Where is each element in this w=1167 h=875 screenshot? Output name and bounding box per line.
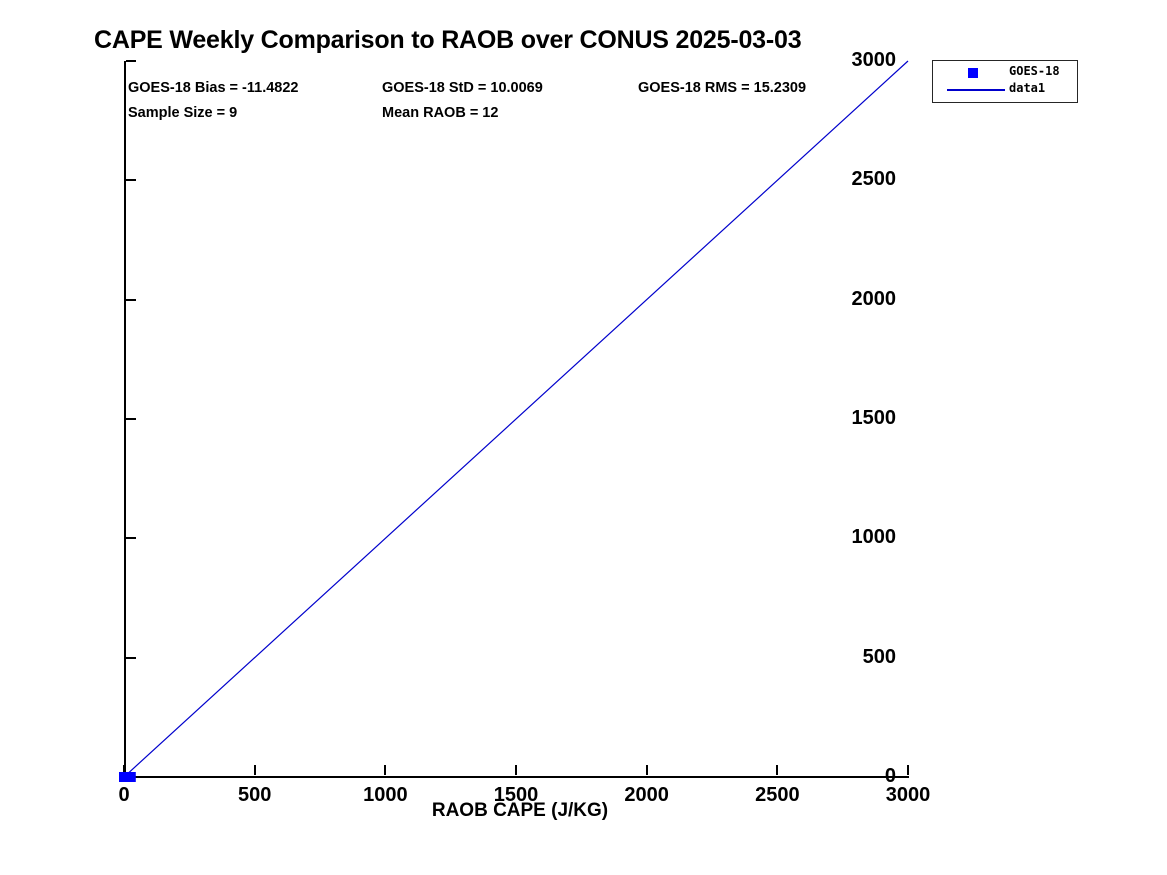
chart-canvas: CAPE Weekly Comparison to RAOB over CONU…: [0, 0, 1167, 875]
legend-line-icon: [947, 89, 1005, 91]
plot-area: 050010001500200025003000 050010001500200…: [124, 61, 908, 777]
stat-mean-raob: Mean RAOB = 12: [382, 105, 498, 121]
reference-line-series: [124, 61, 908, 777]
series-layer: [124, 61, 908, 777]
legend: GOES-18 data1: [932, 60, 1078, 103]
legend-label-data1: data1: [1009, 81, 1045, 95]
legend-label-goes18: GOES-18: [1009, 64, 1060, 78]
stat-rms: GOES-18 RMS = 15.2309: [638, 80, 806, 96]
page-title: CAPE Weekly Comparison to RAOB over CONU…: [94, 26, 801, 55]
legend-item-data1: data1: [933, 81, 1077, 101]
goes18-scatter-series: [119, 772, 136, 782]
y-axis-label: Measured CAPE (J/KG): [0, 151, 2, 360]
stat-sample-size: Sample Size = 9: [128, 105, 237, 121]
stat-std: GOES-18 StD = 10.0069: [382, 80, 543, 96]
x-axis-label: RAOB CAPE (J/KG): [0, 800, 1040, 822]
legend-square-marker-icon: [968, 68, 978, 78]
data-point-marker: [124, 772, 134, 782]
reference-line: [124, 61, 908, 777]
stat-bias: GOES-18 Bias = -11.4822: [128, 80, 298, 96]
